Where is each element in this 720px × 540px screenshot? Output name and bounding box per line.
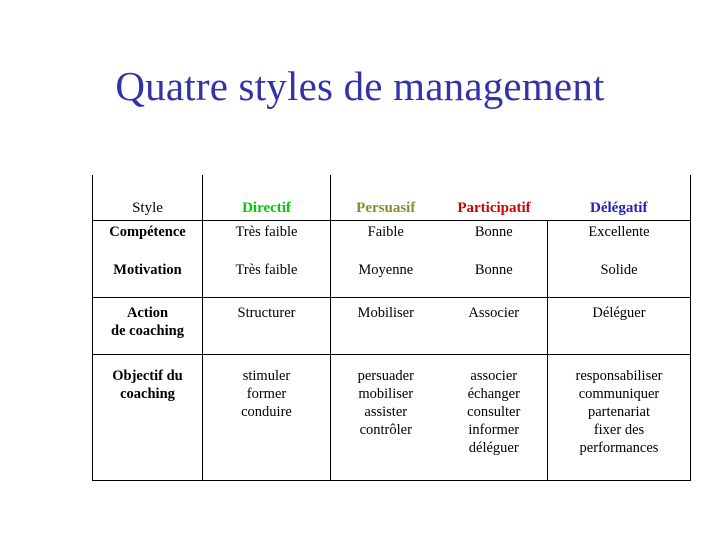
cell-line: assister xyxy=(331,403,441,421)
table-row: Motivation Très faible Moyenne Bonne Sol… xyxy=(93,245,691,298)
cell-objectif-delegatif-lines: responsabilisercommuniquerpartenariatfix… xyxy=(548,367,690,457)
cell-line: communiquer xyxy=(548,385,690,403)
row-label-action-lines: Action de coaching xyxy=(93,304,202,340)
cell-objectif-persuasif-lines: persuadermobiliserassistercontrôler xyxy=(331,367,441,439)
column-header-delegatif: Délégatif xyxy=(548,175,691,221)
cell-line: performances xyxy=(548,439,690,457)
cell-line: associer xyxy=(441,367,548,385)
row-label-action: Action de coaching xyxy=(93,298,203,355)
row-label-competence: Compétence xyxy=(93,221,203,246)
cell-action-persuasif: Mobiliser xyxy=(331,298,441,355)
table-row: Action de coaching Structurer Mobiliser … xyxy=(93,298,691,355)
cell-action-delegatif: Déléguer xyxy=(548,298,691,355)
cell-action-participatif: Associer xyxy=(441,298,548,355)
cell-motivation-participatif: Bonne xyxy=(441,245,548,298)
cell-line: conduire xyxy=(203,403,330,421)
cell-line: stimuler xyxy=(203,367,330,385)
table-row: Objectif du coaching stimulerformercondu… xyxy=(93,355,691,481)
cell-objectif-directif: stimulerformerconduire xyxy=(203,355,331,481)
row-label-objectif-lines: Objectif du coaching xyxy=(93,367,202,403)
table-row: Compétence Très faible Faible Bonne Exce… xyxy=(93,221,691,246)
cell-line: partenariat xyxy=(548,403,690,421)
row-label-objectif-line1: Objectif du xyxy=(93,367,202,385)
column-header-directif: Directif xyxy=(203,175,331,221)
row-label-motivation: Motivation xyxy=(93,245,203,298)
table-grid: Style Directif Persuasif Participatif Dé… xyxy=(92,175,691,481)
row-label-objectif-line2: coaching xyxy=(93,385,202,403)
cell-line: mobiliser xyxy=(331,385,441,403)
row-label-action-line1: Action xyxy=(93,304,202,322)
cell-line: fixer des xyxy=(548,421,690,439)
table-header-row: Style Directif Persuasif Participatif Dé… xyxy=(93,175,691,221)
cell-motivation-persuasif: Moyenne xyxy=(331,245,441,298)
column-header-style: Style xyxy=(93,175,203,221)
column-header-persuasif: Persuasif xyxy=(331,175,441,221)
cell-line: consulter xyxy=(441,403,548,421)
cell-line: contrôler xyxy=(331,421,441,439)
cell-objectif-delegatif: responsabilisercommuniquerpartenariatfix… xyxy=(548,355,691,481)
management-styles-table: Style Directif Persuasif Participatif Dé… xyxy=(92,175,690,466)
cell-line: informer xyxy=(441,421,548,439)
cell-objectif-participatif-lines: associeréchangerconsulterinformerdélégue… xyxy=(441,367,548,457)
cell-line: déléguer xyxy=(441,439,548,457)
cell-competence-participatif: Bonne xyxy=(441,221,548,246)
row-label-objectif: Objectif du coaching xyxy=(93,355,203,481)
cell-objectif-participatif: associeréchangerconsulterinformerdélégue… xyxy=(441,355,548,481)
page-title: Quatre styles de management xyxy=(0,62,720,110)
cell-competence-delegatif: Excellente xyxy=(548,221,691,246)
cell-motivation-delegatif: Solide xyxy=(548,245,691,298)
cell-line: responsabiliser xyxy=(548,367,690,385)
cell-objectif-directif-lines: stimulerformerconduire xyxy=(203,367,330,421)
cell-competence-persuasif: Faible xyxy=(331,221,441,246)
cell-line: échanger xyxy=(441,385,548,403)
cell-competence-directif: Très faible xyxy=(203,221,331,246)
cell-line: former xyxy=(203,385,330,403)
cell-line: persuader xyxy=(331,367,441,385)
cell-action-directif: Structurer xyxy=(203,298,331,355)
cell-objectif-persuasif: persuadermobiliserassistercontrôler xyxy=(331,355,441,481)
cell-motivation-directif: Très faible xyxy=(203,245,331,298)
slide-canvas: Quatre styles de management Style Direct… xyxy=(0,0,720,540)
row-label-action-line2: de coaching xyxy=(93,322,202,340)
column-header-participatif: Participatif xyxy=(441,175,548,221)
